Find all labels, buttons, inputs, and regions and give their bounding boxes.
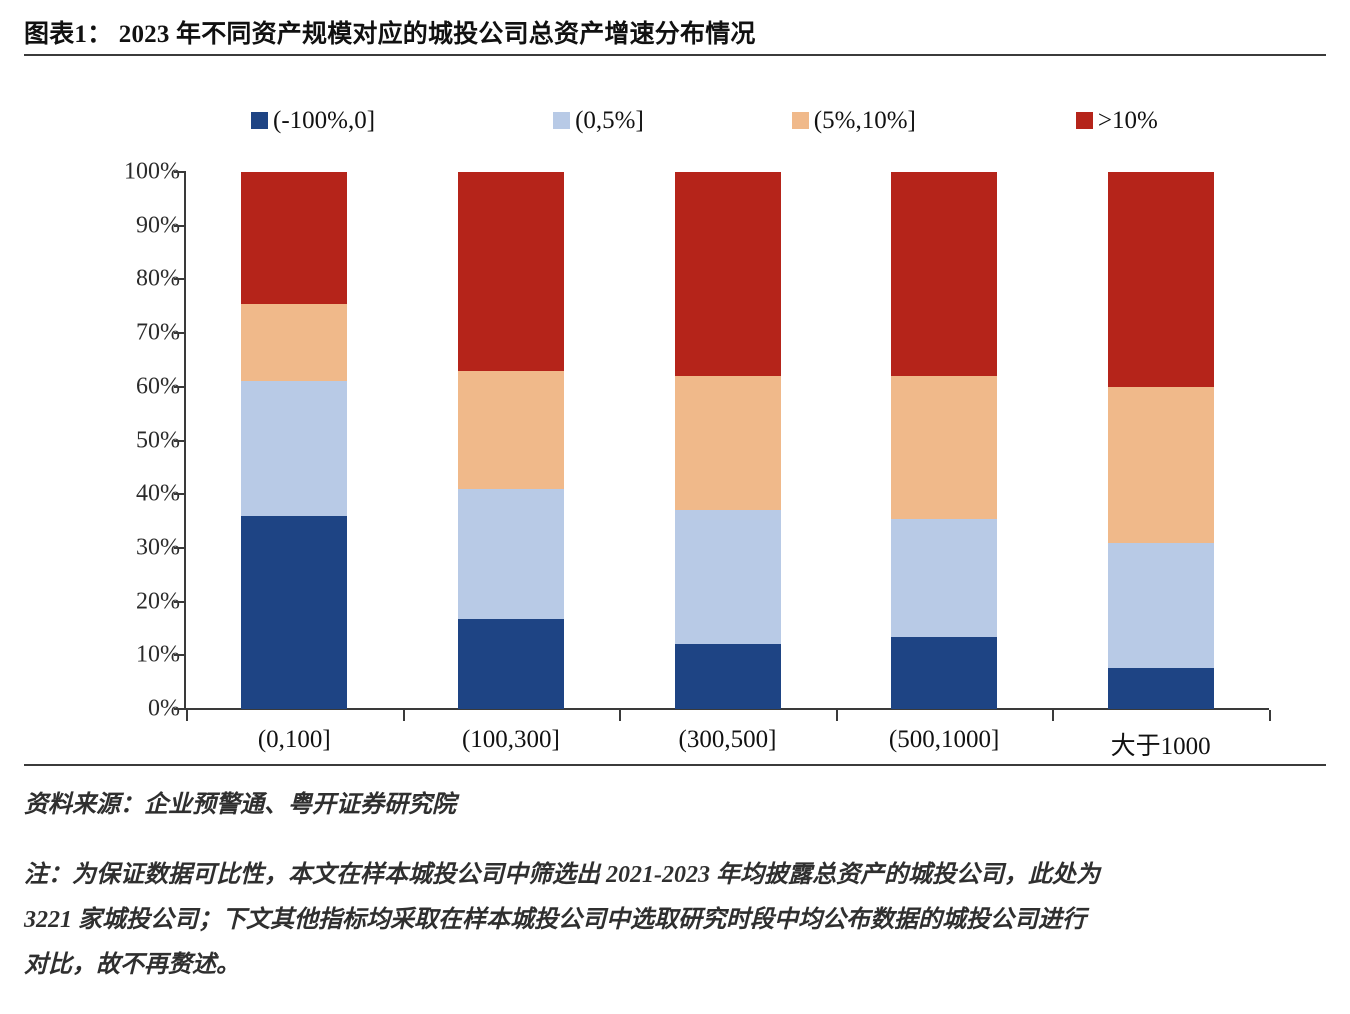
bar-segment-0[interactable] (241, 516, 347, 709)
bar-segment-0[interactable] (1108, 668, 1214, 709)
bar-segment-2[interactable] (458, 371, 564, 489)
legend-item-1[interactable]: (0,5%] (553, 108, 644, 133)
bar-segment-1[interactable] (675, 510, 781, 643)
bar-segment-3[interactable] (458, 172, 564, 371)
page-title: 图表1： 2023 年不同资产规模对应的城投公司总资产增速分布情况 (24, 14, 1326, 50)
legend-item-label: (0,5%] (575, 108, 644, 133)
x-axis-tick-mark (1052, 710, 1054, 721)
bar-segment-0[interactable] (891, 637, 997, 709)
bar-segment-0[interactable] (675, 644, 781, 710)
x-axis-tick-mark (836, 710, 838, 721)
stacked-bar[interactable] (458, 172, 564, 709)
y-axis-tick-mark (174, 278, 186, 280)
footnote-line-3: 对比，故不再赘述。 (24, 943, 1326, 988)
y-axis-tick-mark (174, 654, 186, 656)
chart-title-bar: 图表1： 2023 年不同资产规模对应的城投公司总资产增速分布情况 (24, 14, 1326, 50)
legend-swatch (1076, 112, 1093, 129)
bar-segment-1[interactable] (241, 381, 347, 515)
legend-swatch (792, 112, 809, 129)
stacked-bar[interactable] (675, 172, 781, 709)
legend-item-label: (5%,10%] (814, 108, 916, 133)
x-axis-tick-mark (1269, 710, 1271, 721)
footer-divider (24, 764, 1326, 766)
x-axis-tick-mark (619, 710, 621, 721)
bar-group[interactable] (1108, 172, 1214, 709)
y-axis-tick-mark (174, 386, 186, 388)
bar-group[interactable] (241, 172, 347, 709)
x-axis-tick-label: (300,500] (679, 726, 777, 754)
bar-segment-1[interactable] (458, 489, 564, 619)
stacked-bar[interactable] (1108, 172, 1214, 709)
y-axis-tick-mark (174, 332, 186, 334)
bar-segment-1[interactable] (1108, 543, 1214, 668)
chart-plot-area: 0%10%20%30%40%50%60%70%80%90%100% (0,100… (96, 160, 1276, 720)
x-axis-tick-mark (403, 710, 405, 721)
legend-item-label: (-100%,0] (273, 108, 375, 133)
x-axis-tick-label: (100,300] (462, 726, 560, 754)
legend-item-label: >10% (1098, 108, 1158, 133)
x-axis-tick-label: (0,100] (258, 726, 331, 754)
footnote-line-2: 3221 家城投公司；下文其他指标均采取在样本城投公司中选取研究时段中均公布数据… (24, 898, 1326, 943)
bar-segment-2[interactable] (891, 376, 997, 519)
x-axis-tick-label: (500,1000] (889, 726, 999, 754)
x-axis-tick-label: 大于1000 (1111, 726, 1211, 762)
legend-item-2[interactable]: (5%,10%] (792, 108, 916, 133)
bar-segment-3[interactable] (891, 172, 997, 376)
x-axis-tick-mark (186, 710, 188, 721)
y-axis-tick-label: 100% (124, 159, 180, 186)
y-axis-tick-mark (174, 601, 186, 603)
bar-segment-3[interactable] (241, 172, 347, 304)
chart-legend: (-100%,0](0,5%](5%,10%]>10% (245, 103, 1145, 137)
bar-group[interactable] (675, 172, 781, 709)
bar-group[interactable] (891, 172, 997, 709)
source-note: 资料来源：企业预警通、粤开证券研究院 (24, 784, 1274, 819)
legend-item-0[interactable]: (-100%,0] (251, 108, 375, 133)
bar-segment-3[interactable] (1108, 172, 1214, 387)
bar-group[interactable] (458, 172, 564, 709)
y-axis-tick-mark (174, 171, 186, 173)
footnote-block: 注：为保证数据可比性，本文在样本城投公司中筛选出 2021-2023 年均披露总… (24, 853, 1326, 988)
y-axis-labels: 0%10%20%30%40%50%60%70%80%90%100% (96, 160, 180, 696)
stacked-bar[interactable] (241, 172, 347, 709)
legend-swatch (251, 112, 268, 129)
y-axis-tick-mark (174, 493, 186, 495)
bar-segment-2[interactable] (675, 376, 781, 510)
y-axis-tick-mark (174, 225, 186, 227)
bar-segment-2[interactable] (241, 304, 347, 382)
legend-swatch (553, 112, 570, 129)
legend-item-3[interactable]: >10% (1076, 108, 1158, 133)
bar-segment-1[interactable] (891, 519, 997, 636)
footnote-line-1: 注：为保证数据可比性，本文在样本城投公司中筛选出 2021-2023 年均披露总… (24, 853, 1326, 898)
bar-series-container (186, 172, 1269, 709)
bar-segment-0[interactable] (458, 619, 564, 709)
y-axis-tick-mark (174, 547, 186, 549)
y-axis-tick-mark (174, 440, 186, 442)
title-divider (24, 54, 1326, 56)
stacked-bar[interactable] (891, 172, 997, 709)
bar-segment-3[interactable] (675, 172, 781, 376)
y-axis-tick-mark (174, 708, 186, 710)
bar-segment-2[interactable] (1108, 387, 1214, 543)
x-axis-labels: (0,100](100,300](300,500](500,1000]大于100… (186, 726, 1269, 766)
